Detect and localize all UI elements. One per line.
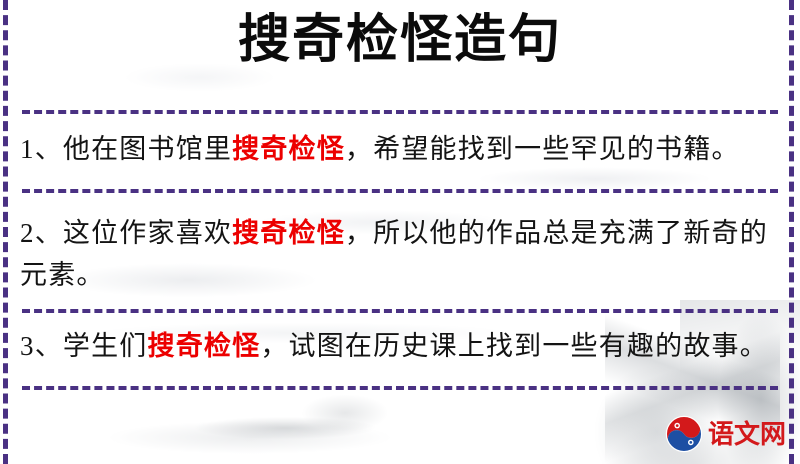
sentence-index-1: 1、 — [20, 134, 63, 164]
sentence-text-before-2: 这位作家喜欢 — [63, 218, 232, 248]
yinyang-fish-circle-icon — [664, 414, 704, 454]
sentence-text-before-1: 他在图书馆里 — [63, 134, 232, 164]
sentence-item-2: 2、这位作家喜欢搜奇检怪，所以他的作品总是充满了新奇的元素。 — [20, 212, 782, 296]
page-root: 搜奇检怪造句 1、他在图书馆里搜奇检怪，希望能找到一些罕见的书籍。 2、这位作家… — [0, 0, 800, 464]
page-title: 搜奇检怪造句 — [0, 15, 800, 67]
sentence-text-after-3: ，试图在历史课上找到一些有趣的故事。 — [260, 331, 768, 361]
separator-line-1 — [22, 110, 778, 114]
idiom-highlight-2: 搜奇检怪 — [232, 218, 345, 248]
sentence-text-after-1: ，希望能找到一些罕见的书籍。 — [345, 134, 740, 164]
sentence-index-3: 3、 — [20, 331, 63, 361]
sentence-item-1: 1、他在图书馆里搜奇检怪，希望能找到一些罕见的书籍。 — [20, 128, 782, 170]
content-layer: 搜奇检怪造句 1、他在图书馆里搜奇检怪，希望能找到一些罕见的书籍。 2、这位作家… — [0, 0, 800, 464]
idiom-highlight-3: 搜奇检怪 — [148, 331, 261, 361]
separator-line-2 — [22, 189, 778, 193]
idiom-highlight-1: 搜奇检怪 — [232, 134, 345, 164]
site-logo: 语文网 — [664, 412, 789, 456]
separator-line-4 — [22, 386, 778, 390]
separator-line-3 — [22, 309, 778, 313]
sentence-item-3: 3、学生们搜奇检怪，试图在历史课上找到一些有趣的故事。 — [20, 325, 782, 367]
logo-text: 语文网 — [708, 421, 786, 447]
sentence-text-before-3: 学生们 — [63, 331, 148, 361]
sentence-index-2: 2、 — [20, 218, 63, 248]
